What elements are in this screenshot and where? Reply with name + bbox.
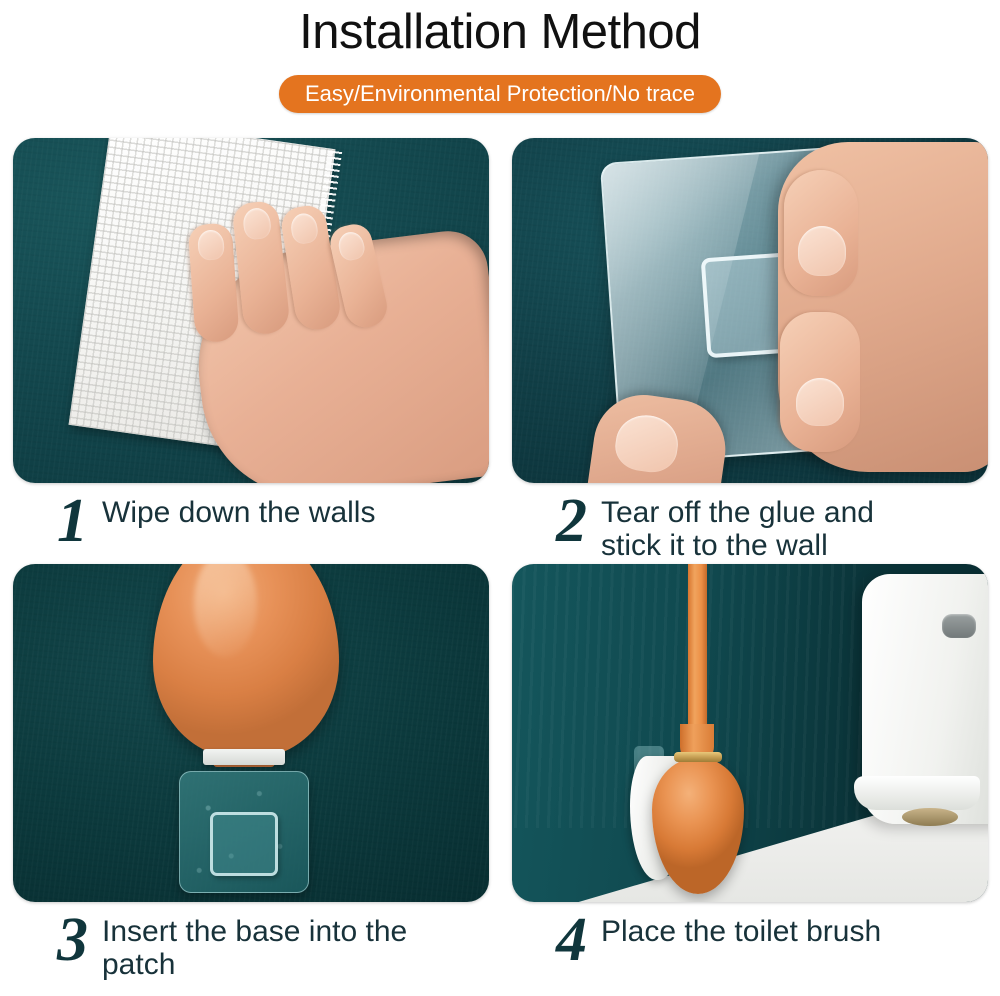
fingernail bbox=[796, 378, 844, 426]
hand-wiping bbox=[185, 227, 489, 483]
index-finger bbox=[780, 312, 860, 452]
step-card-2: 2 Tear off the glue and stick it to the … bbox=[512, 138, 988, 564]
caption-line: Place the toilet brush bbox=[601, 915, 986, 948]
toilet-flush-button bbox=[942, 614, 976, 638]
step-2-caption: 2 Tear off the glue and stick it to the … bbox=[556, 490, 986, 562]
base-highlight bbox=[194, 564, 257, 657]
step-number-3: 3 bbox=[57, 909, 88, 971]
step-4-photo-place-brush bbox=[512, 564, 988, 902]
caption-line: patch bbox=[102, 948, 487, 981]
step-3-photo-insert-base bbox=[13, 564, 489, 902]
step-1-caption-text: Wipe down the walls bbox=[102, 490, 487, 529]
thumbnail bbox=[798, 226, 846, 276]
caption-line: Tear off the glue and bbox=[601, 496, 986, 529]
right-hand-holding-patch bbox=[778, 142, 988, 472]
fingernail bbox=[289, 212, 319, 246]
brush-gold-band bbox=[674, 752, 722, 762]
caption-line: Wipe down the walls bbox=[102, 496, 487, 529]
toilet-base-fitting bbox=[902, 808, 958, 826]
step-card-1: 1 Wipe down the walls bbox=[13, 138, 489, 564]
wall-adhesive-patch bbox=[179, 771, 309, 893]
step-2-photo-tear-glue bbox=[512, 138, 988, 483]
step-card-3: 3 Insert the base into the patch bbox=[13, 564, 489, 990]
thumb bbox=[784, 170, 858, 296]
toilet-brush-base bbox=[153, 564, 339, 758]
step-number-1: 1 bbox=[57, 490, 88, 552]
header: Installation Method Easy/Environmental P… bbox=[0, 0, 1000, 128]
page-title: Installation Method bbox=[0, 2, 1000, 62]
patch-square-socket bbox=[210, 812, 278, 876]
caption-line: Insert the base into the bbox=[102, 915, 487, 948]
step-1-caption: 1 Wipe down the walls bbox=[57, 490, 487, 552]
caption-line: stick it to the wall bbox=[601, 529, 986, 562]
thumbnail bbox=[612, 411, 681, 475]
step-2-caption-text: Tear off the glue and stick it to the wa… bbox=[601, 490, 986, 562]
fingernail bbox=[197, 229, 225, 261]
step-1-photo-wipe-walls bbox=[13, 138, 489, 483]
brush-handle bbox=[688, 564, 707, 730]
step-card-4: 4 Place the toilet brush bbox=[512, 564, 988, 990]
subtitle-badge: Easy/Environmental Protection/No trace bbox=[279, 75, 721, 113]
step-4-caption-text: Place the toilet brush bbox=[601, 909, 986, 948]
step-number-2: 2 bbox=[556, 490, 587, 552]
toilet-seat-edge bbox=[854, 776, 980, 810]
step-number-4: 4 bbox=[556, 909, 587, 971]
step-3-caption-text: Insert the base into the patch bbox=[102, 909, 487, 981]
fingernail bbox=[242, 207, 272, 241]
step-3-caption: 3 Insert the base into the patch bbox=[57, 909, 487, 981]
step-4-caption: 4 Place the toilet brush bbox=[556, 909, 986, 971]
base-clip bbox=[203, 749, 285, 765]
fingernail bbox=[336, 230, 367, 263]
index-finger bbox=[188, 222, 240, 343]
installation-steps-grid: 1 Wipe down the walls bbox=[13, 138, 988, 990]
subtitle-badge-label: Easy/Environmental Protection/No trace bbox=[305, 83, 695, 105]
